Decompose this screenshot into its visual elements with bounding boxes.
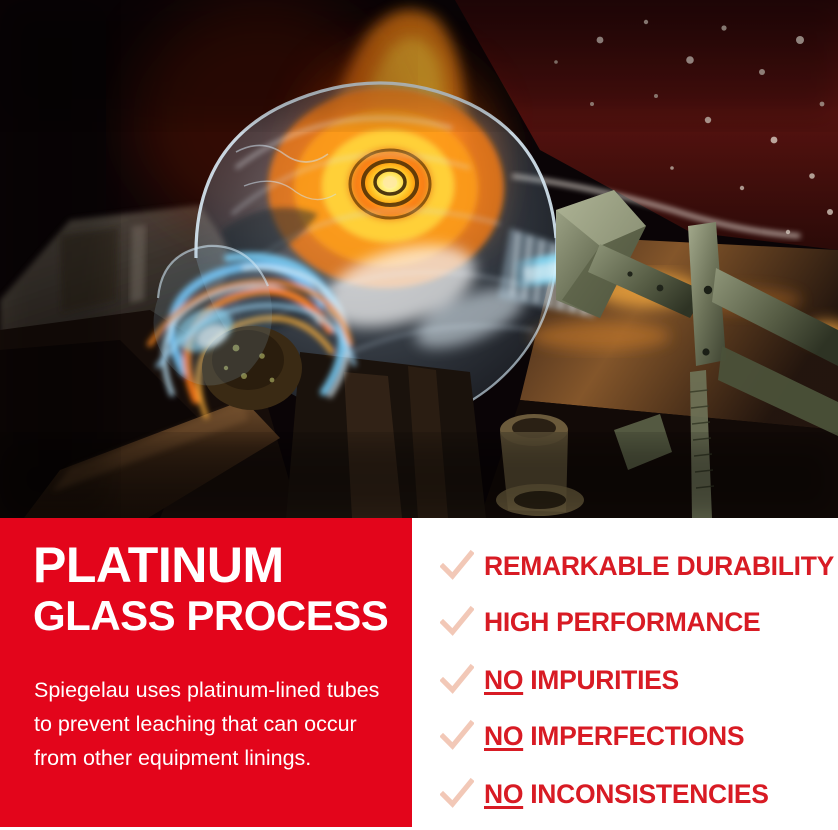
description-line-3: from other equipment linings.: [34, 741, 394, 775]
poster-root: PLATINUM GLASS PROCESS Spiegelau uses pl…: [0, 0, 838, 830]
list-item: NO IMPURITIES: [440, 658, 679, 702]
checkmark-icon: [440, 777, 474, 811]
description-paragraph: Spiegelau uses platinum-lined tubes to p…: [34, 673, 394, 775]
description-line-2: to prevent leaching that can occur: [34, 707, 394, 741]
headline-block: PLATINUM GLASS PROCESS: [33, 539, 401, 639]
list-item-label-1: HIGH PERFORMANCE: [484, 607, 760, 637]
list-item-prefix-4: NO: [484, 779, 523, 809]
list-item-label-4: NO INCONSISTENCIES: [484, 779, 769, 809]
lower-band: PLATINUM GLASS PROCESS Spiegelau uses pl…: [0, 518, 838, 830]
list-item-text-3: IMPERFECTIONS: [530, 721, 744, 751]
list-item-text-0: REMARKABLE DURABILITY: [484, 551, 834, 581]
list-item-text-4: INCONSISTENCIES: [530, 779, 768, 809]
list-item-text-2: IMPURITIES: [530, 665, 679, 695]
photo-illustration: [0, 0, 838, 518]
checkmark-icon: [440, 549, 474, 583]
list-item-label-2: NO IMPURITIES: [484, 665, 679, 695]
list-item: REMARKABLE DURABILITY: [440, 544, 834, 588]
page-title-line-2: GLASS PROCESS: [33, 593, 401, 639]
checkmark-icon: [440, 605, 474, 639]
checkmark-icon: [440, 663, 474, 697]
list-item-label-3: NO IMPERFECTIONS: [484, 721, 744, 751]
checkmark-icon: [440, 719, 474, 753]
glassblowing-photo: [0, 0, 838, 518]
list-item-prefix-3: NO: [484, 721, 523, 751]
page-title-line-1: PLATINUM: [33, 539, 401, 591]
benefits-checklist: REMARKABLE DURABILITY HIGH PERFORMANCE N…: [412, 518, 838, 830]
list-item: HIGH PERFORMANCE: [440, 600, 760, 644]
list-item-text-1: HIGH PERFORMANCE: [484, 607, 760, 637]
red-headline-panel: PLATINUM GLASS PROCESS Spiegelau uses pl…: [0, 518, 412, 827]
list-item-prefix-2: NO: [484, 665, 523, 695]
description-line-1: Spiegelau uses platinum-lined tubes: [34, 673, 394, 707]
list-item: NO IMPERFECTIONS: [440, 714, 744, 758]
list-item: NO INCONSISTENCIES: [440, 772, 769, 816]
list-item-label-0: REMARKABLE DURABILITY: [484, 551, 834, 581]
